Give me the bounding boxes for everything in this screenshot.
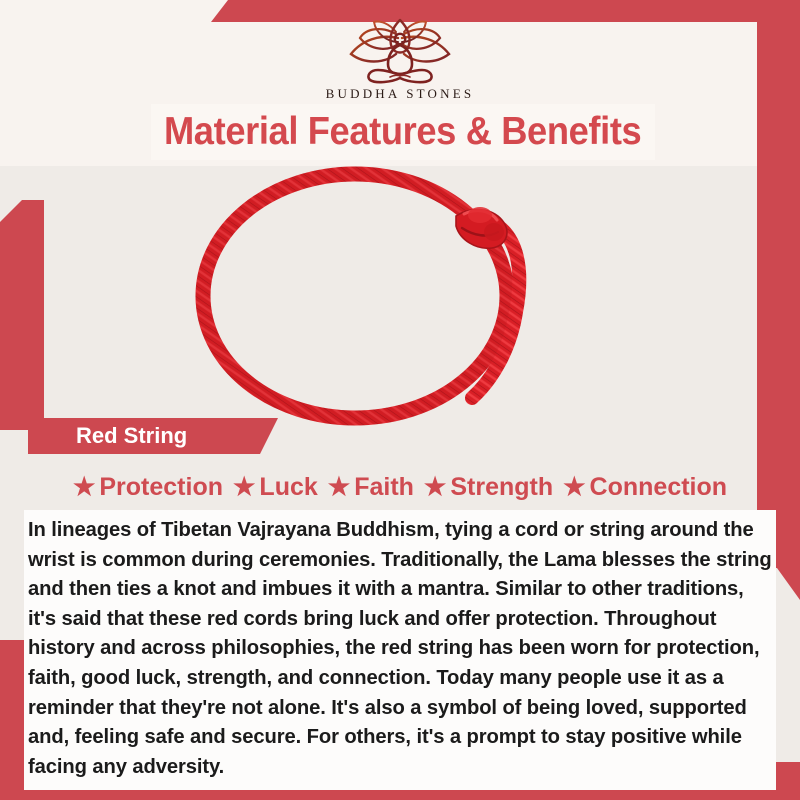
infographic-poster: BUDDHA STONES Material Features & Benefi…	[0, 0, 800, 800]
lotus-meditation-icon	[336, 18, 464, 84]
feature-item-strength: ★ Strength	[420, 473, 557, 502]
feature-item-protection: ★ Protection	[69, 473, 227, 502]
product-image	[120, 166, 700, 426]
material-label-banner: Red String	[28, 418, 278, 454]
star-icon: ★	[563, 475, 585, 500]
star-icon: ★	[233, 475, 255, 500]
material-label: Red String	[76, 423, 187, 449]
feature-label: Strength	[450, 473, 553, 502]
title-banner: Material Features & Benefits	[151, 104, 655, 160]
star-icon: ★	[328, 475, 350, 500]
feature-label: Luck	[259, 473, 317, 502]
description-panel: In lineages of Tibetan Vajrayana Buddhis…	[24, 510, 776, 790]
feature-label: Protection	[99, 473, 223, 502]
brand-name: BUDDHA STONES	[0, 86, 800, 102]
feature-item-faith: ★ Faith	[324, 473, 418, 502]
feature-label: Faith	[354, 473, 414, 502]
red-string-bracelet-illustration	[120, 166, 700, 426]
page-title: Material Features & Benefits	[164, 110, 641, 154]
feature-label: Connection	[590, 473, 728, 502]
description-text: In lineages of Tibetan Vajrayana Buddhis…	[28, 516, 772, 782]
feature-list: ★ Protection ★ Luck ★ Faith ★ Strength ★…	[24, 466, 776, 508]
star-icon: ★	[73, 475, 95, 500]
feature-item-luck: ★ Luck	[229, 473, 322, 502]
feature-item-connection: ★ Connection	[559, 473, 731, 502]
star-icon: ★	[424, 475, 446, 500]
brand-logo: BUDDHA STONES	[0, 18, 800, 102]
left-red-accent-bar	[0, 200, 44, 430]
